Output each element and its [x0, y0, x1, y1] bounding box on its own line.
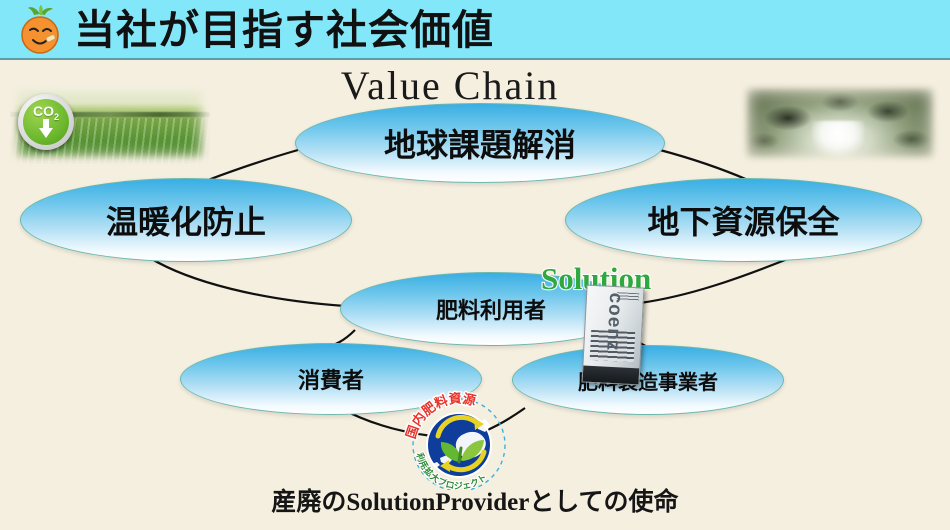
package-brand-label: coenz [600, 285, 627, 367]
connector-under-user [640, 258, 790, 303]
connector-earth-under [660, 150, 748, 180]
node-label: 地下資源保全 [647, 197, 839, 243]
node-label: 肥料利用者 [436, 293, 546, 325]
slide-canvas: 当社が目指す社会価値 Value Chain CO2 地球課 [0, 0, 950, 530]
node-earth-issue-resolution[interactable]: 地球課題解消 [295, 103, 665, 183]
node-fertilizer-manufacturer[interactable]: 肥料製造事業者 [512, 345, 784, 415]
package-bottom-band [583, 365, 640, 384]
node-warming-prevention[interactable]: 温暖化防止 [20, 178, 352, 262]
coenz-product-package: coenz [581, 285, 644, 386]
node-label: 地球課題解消 [384, 120, 576, 166]
connector-warming-user [150, 258, 345, 306]
node-label: 温暖化防止 [106, 197, 266, 243]
domestic-fertilizer-resource-project-logo: 国内肥料資源 利用拡大プロジェクト [404, 390, 514, 490]
connector-earth-warming [208, 150, 298, 180]
node-label: 消費者 [298, 363, 364, 395]
node-underground-resource-conservation[interactable]: 地下資源保全 [565, 178, 922, 262]
